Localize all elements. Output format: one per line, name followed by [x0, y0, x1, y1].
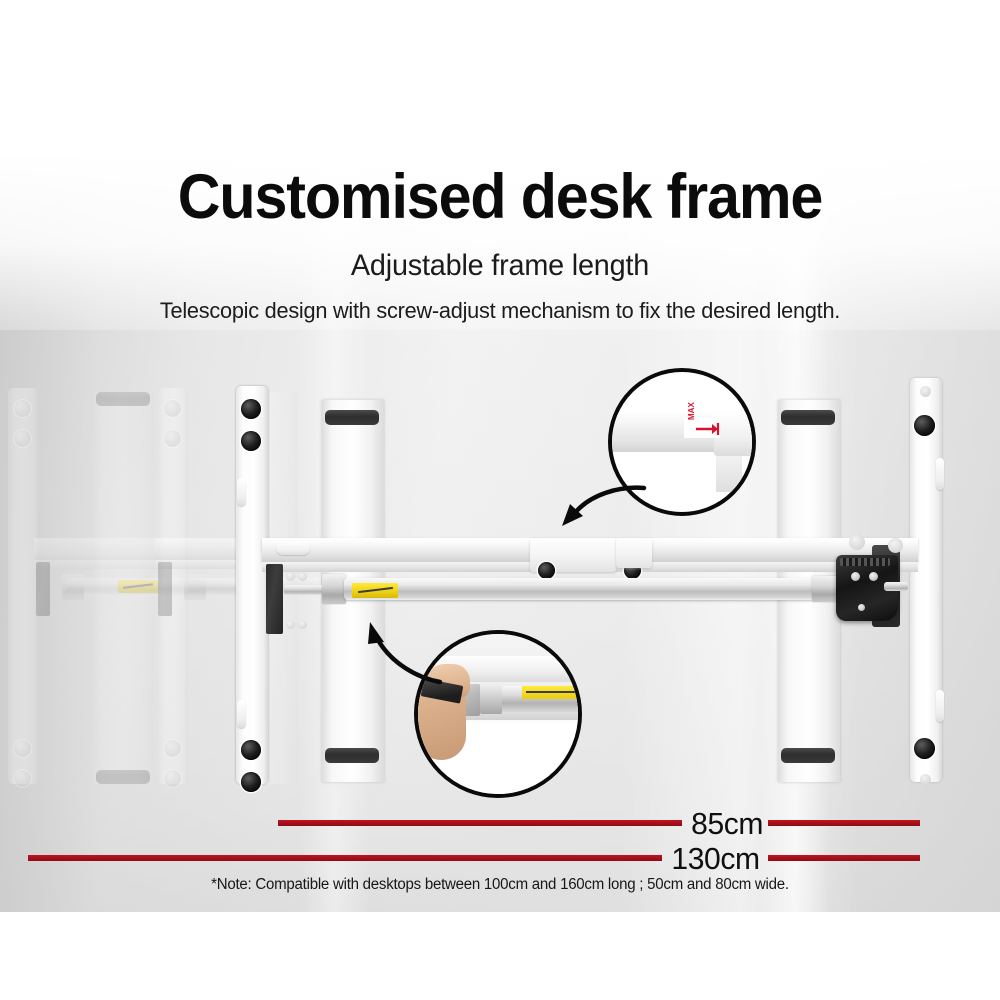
measurement-line-130-right — [768, 855, 920, 861]
rail-notch-right-lower — [936, 690, 944, 722]
measurement-label-85cm: 85cm — [691, 806, 763, 842]
rail-bolt-left-bottom-1 — [241, 740, 261, 760]
measurement-line-130-left — [28, 855, 662, 861]
callout-rail-post — [716, 456, 742, 492]
ghost-bolt-7 — [164, 740, 181, 757]
motor-plate-hole — [888, 538, 903, 553]
callout-screw-collar — [480, 684, 502, 714]
page-title: Customised desk frame — [30, 166, 970, 229]
rail-bolt-right-top — [914, 415, 935, 436]
ghost-warning-label-1 — [118, 580, 158, 593]
ghost-leg-cap-1 — [96, 392, 150, 406]
desk-leg-right-cap-bottom — [781, 748, 835, 763]
callout-arrow-bottom — [348, 612, 448, 692]
rail-bolt-left-bottom-2 — [241, 772, 261, 792]
rail-hole-right-top — [920, 386, 931, 397]
telescopic-tube — [344, 578, 814, 600]
rail-bolt-right-bottom — [914, 738, 935, 759]
ghost-bolt-8 — [164, 770, 181, 787]
ghost-rail-1 — [8, 388, 38, 784]
end-bracket-hole-4 — [298, 620, 307, 629]
infographic-page: Customised desk frame Adjustable frame l… — [0, 0, 1000, 1000]
callout-warning-label — [522, 686, 582, 699]
rail-notch-left-lower — [237, 700, 246, 728]
ghost-leg-cap-2 — [96, 770, 150, 784]
desk-leg-left-cap-top — [325, 410, 379, 425]
compatibility-note: *Note: Compatible with desktops between … — [15, 876, 985, 894]
desk-leg-right-cap-top — [781, 410, 835, 425]
rail-bolt-left-top-1 — [241, 399, 261, 419]
callout-rail-end-block — [714, 412, 756, 456]
max-arrow-icon — [696, 422, 720, 436]
rail-bolt-left-top-2 — [241, 431, 261, 451]
motor-indicator-dot-2 — [869, 572, 878, 581]
crossbeam-tab-left — [276, 541, 310, 555]
ghost-bolt-4 — [14, 770, 31, 787]
end-bracket-hole-3 — [286, 620, 295, 629]
ghost-bolt-2 — [14, 430, 31, 447]
adjust-collar — [322, 574, 346, 604]
end-bracket-hole-1 — [286, 572, 295, 581]
ghost-bolt-3 — [14, 740, 31, 757]
measurement-line-85-left — [278, 820, 682, 826]
max-decal-text: MAX — [687, 402, 696, 420]
motor-ridge-detail — [840, 558, 890, 566]
ghost-bolt-6 — [164, 430, 181, 447]
ghost-bolt-5 — [164, 400, 181, 417]
measurement-label-130cm: 130cm — [671, 841, 759, 877]
page-tagline: Telescopic design with screw-adjust mech… — [18, 298, 983, 324]
ghost-bolt-1 — [14, 400, 31, 417]
rail-notch-right-upper — [936, 458, 944, 490]
centre-bracket-screw-left — [538, 562, 555, 579]
ghost-endplate-2 — [158, 562, 172, 616]
warning-label-yellow — [352, 583, 398, 598]
callout-arrow-top — [548, 480, 648, 550]
end-bracket-hole-2 — [298, 572, 307, 581]
page-subtitle: Adjustable frame length — [20, 249, 980, 283]
measurement-line-85-right — [768, 820, 920, 826]
motor-indicator-dot-3 — [858, 604, 865, 611]
end-bracket-left — [266, 564, 283, 634]
ghost-collar-1 — [62, 574, 84, 600]
crossbeam-right-joint-hole — [849, 534, 865, 550]
rail-notch-left-upper — [237, 478, 246, 506]
desk-leg-left-cap-bottom — [325, 748, 379, 763]
motor-indicator-dot-1 — [851, 572, 860, 581]
ghost-endplate-1 — [36, 562, 50, 616]
ghost-collar-2 — [184, 574, 206, 600]
motor-output-shaft — [884, 582, 908, 591]
rail-hole-right-bottom — [920, 774, 931, 785]
telescopic-rod — [284, 585, 326, 595]
